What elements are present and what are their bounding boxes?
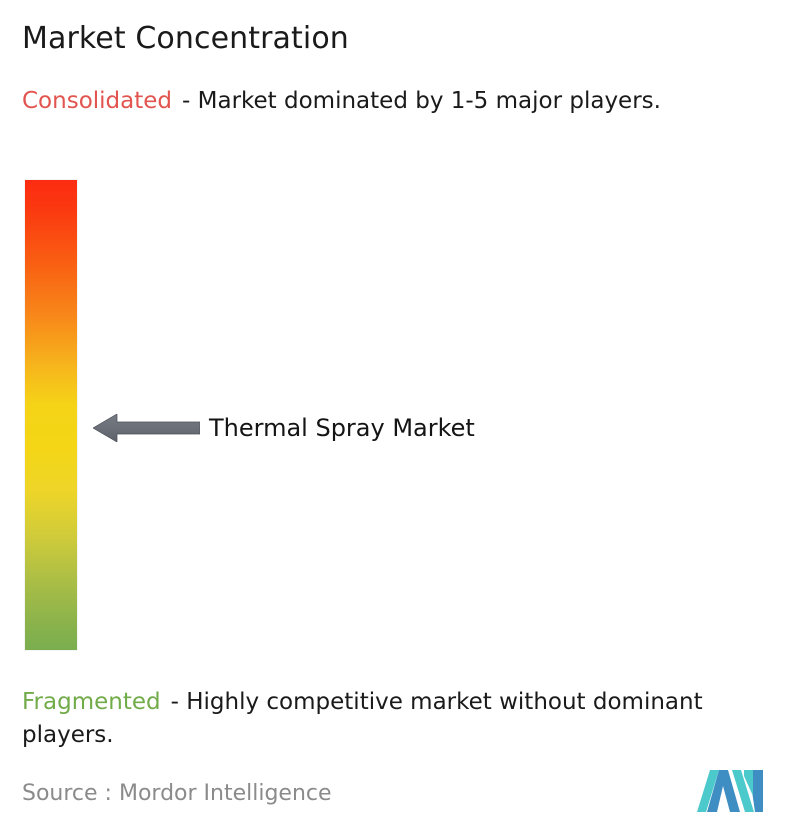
legend-consolidated-keyword: Consolidated (22, 88, 172, 114)
brand-logo (697, 770, 763, 812)
source-name: Mordor Intelligence (119, 781, 332, 806)
source-label: Source : (22, 781, 112, 806)
page-title: Market Concentration (22, 20, 349, 58)
legend-fragmented-keyword: Fragmented (22, 689, 161, 715)
legend-consolidated-dash: - (182, 88, 190, 114)
source-attribution: Source : Mordor Intelligence (22, 779, 332, 809)
legend-consolidated: Consolidated- Market dominated by 1-5 ma… (22, 85, 778, 118)
legend-fragmented: Fragmented- Highly competitive market wi… (22, 686, 784, 752)
legend-consolidated-description: Market dominated by 1-5 major players. (198, 88, 661, 114)
marker-label: Thermal Spray Market (209, 412, 475, 444)
mordor-intelligence-logo-icon (697, 770, 763, 812)
marker-arrow (93, 414, 200, 442)
chart-canvas: Market Concentration Consolidated- Marke… (0, 0, 796, 834)
legend-fragmented-dash: - (171, 689, 179, 715)
market-concentration-scale-bar (25, 180, 77, 650)
arrow-left-icon (93, 414, 200, 442)
